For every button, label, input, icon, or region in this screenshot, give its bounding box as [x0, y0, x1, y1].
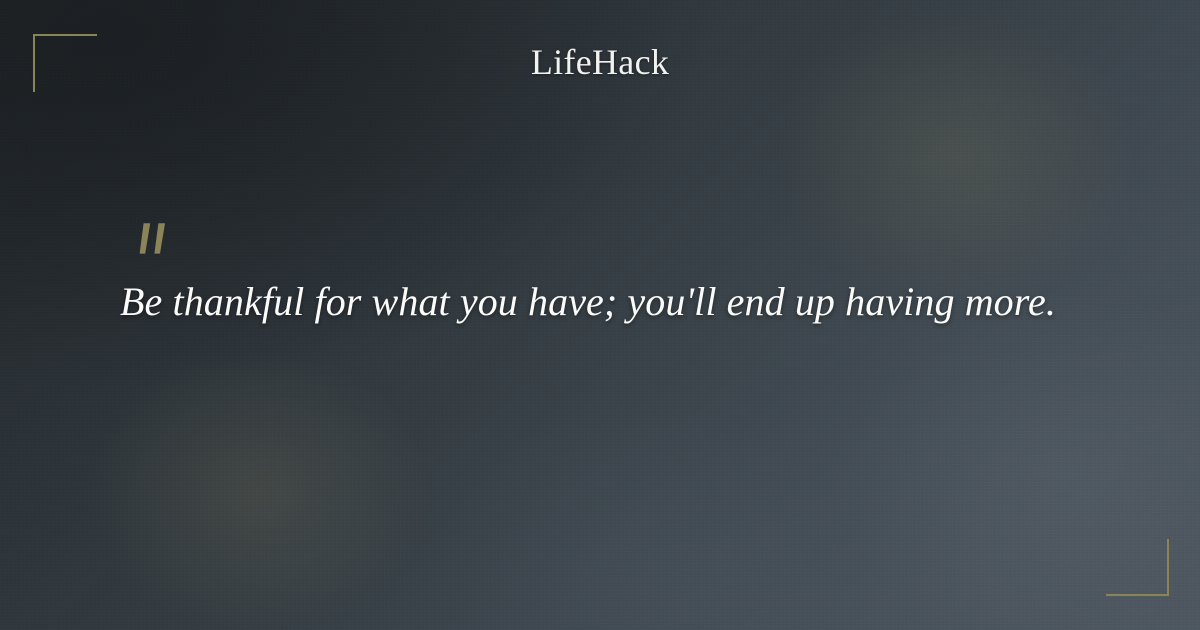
- corner-bracket-bottom-right: [1106, 539, 1169, 596]
- quotation-mark-icon: [134, 222, 178, 264]
- quote-block: Be thankful for what you have; you'll en…: [120, 222, 1100, 328]
- quote-card: LifeHack Be thankful for what you have; …: [0, 0, 1200, 630]
- corner-bracket-top-left-horizontal-bar: [33, 34, 97, 36]
- brand-wordmark: LifeHack: [531, 42, 669, 82]
- corner-bracket-bottom-right-vertical-bar: [1167, 539, 1169, 596]
- quote-text: Be thankful for what you have; you'll en…: [120, 276, 1100, 328]
- corner-bracket-bottom-right-horizontal-bar: [1106, 594, 1169, 596]
- brand-logo: LifeHack: [0, 42, 1200, 82]
